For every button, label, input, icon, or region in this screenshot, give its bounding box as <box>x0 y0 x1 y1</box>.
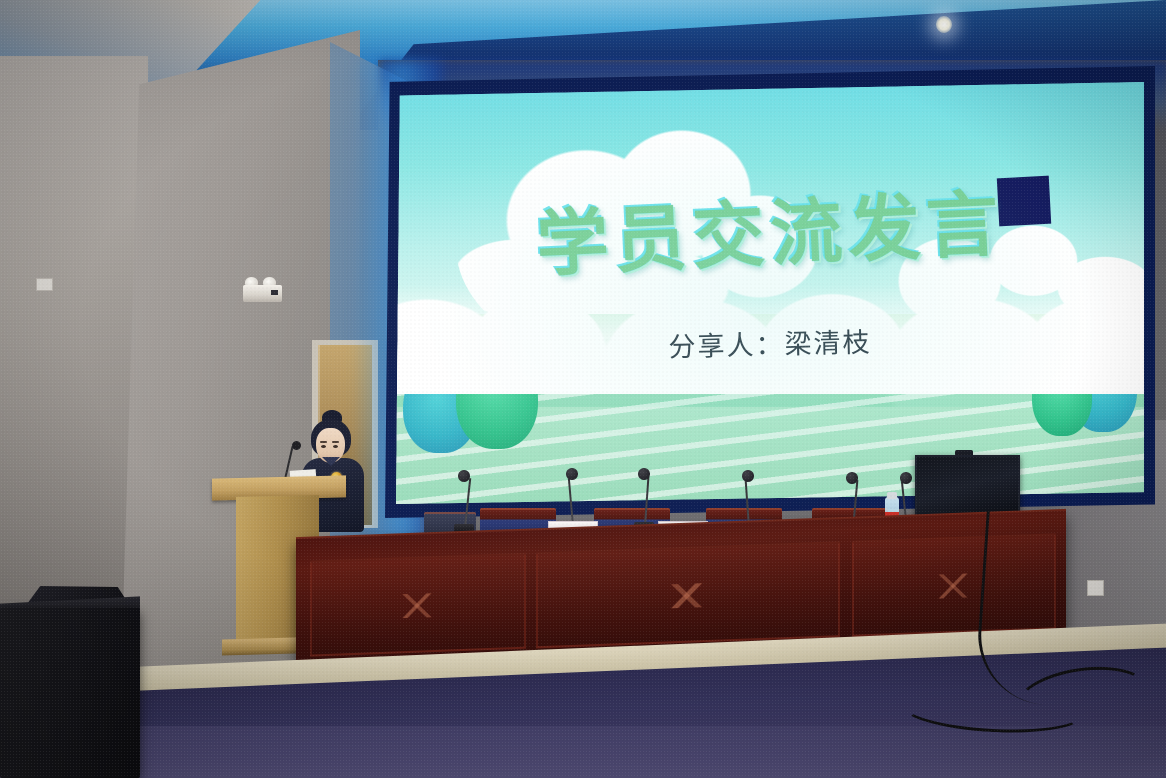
microphone-head <box>458 470 470 482</box>
microphone-head <box>900 472 912 484</box>
microphone-head <box>566 468 578 480</box>
podium-microphone-head[interactable] <box>292 441 301 450</box>
emergency-light-icon <box>243 277 282 302</box>
ceiling-spotlight-icon <box>936 16 952 33</box>
presenter-eye-right <box>333 445 338 448</box>
presenter-eyebrow-right <box>332 441 339 443</box>
light-switch-plate[interactable] <box>36 278 53 291</box>
table-panel-inlay <box>562 579 814 612</box>
led-screen[interactable]: 学员交流发言 分享人：梁清枝 <box>396 82 1144 504</box>
emergency-light-led <box>271 290 278 295</box>
microphone-head <box>638 468 650 480</box>
subwoofer-speaker <box>0 608 140 778</box>
microphone-head <box>742 470 754 482</box>
table-panel <box>536 541 840 648</box>
floor-carpet <box>0 726 1166 778</box>
microphone-head <box>846 472 858 484</box>
auditorium-scene: 学员交流发言 分享人：梁清枝 <box>0 0 1166 778</box>
table-panel <box>310 553 526 657</box>
presenter-eye-left <box>321 445 326 448</box>
water-bottle-cap <box>887 492 897 499</box>
presenter-eyebrow-left <box>320 441 327 443</box>
table-panel-inlay <box>329 590 507 620</box>
